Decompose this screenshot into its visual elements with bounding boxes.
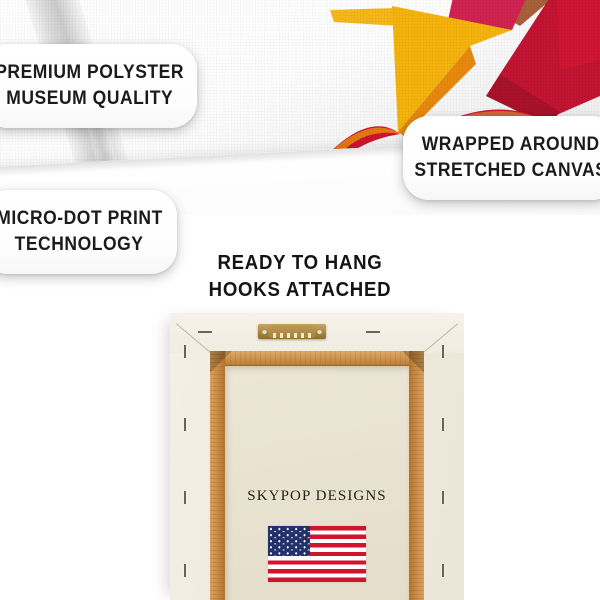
badge-wrapped-around: WRAPPED AROUND STRETCHED CANVAS bbox=[403, 116, 600, 200]
united-states-flag-icon bbox=[268, 526, 366, 582]
wood-grain bbox=[210, 351, 225, 600]
hanger-screw-hole-left bbox=[262, 329, 267, 334]
badge-premium-polyster: PREMIUM POLYSTER MUSEUM QUALITY bbox=[0, 44, 197, 128]
hanger-teeth bbox=[273, 333, 311, 338]
stretcher-bar-left bbox=[210, 351, 225, 600]
staple-left-4 bbox=[184, 564, 186, 577]
staple-right-4 bbox=[442, 564, 444, 577]
brand-name: SKYPOP DESIGNS bbox=[225, 488, 409, 505]
stretcher-bar-right bbox=[409, 351, 424, 600]
hanger-screw-hole-right bbox=[317, 329, 322, 334]
sawtooth-hanger-icon bbox=[258, 324, 326, 339]
stretcher-bar-top bbox=[210, 351, 424, 366]
staple-left-1 bbox=[184, 345, 186, 358]
staple-top-right bbox=[366, 331, 380, 333]
badge-line-1: PREMIUM POLYSTER bbox=[0, 60, 184, 86]
badge-line-2: STRETCHED CANVAS bbox=[414, 158, 600, 184]
badge-line-1: WRAPPED AROUND bbox=[421, 132, 599, 158]
headline-line-1: READY TO HANG bbox=[21, 250, 579, 277]
staple-top-left bbox=[198, 331, 212, 333]
staple-right-1 bbox=[442, 345, 444, 358]
product-feature-image: PREMIUM POLYSTER MUSEUM QUALITY WRAPPED … bbox=[0, 0, 600, 600]
flag-stars bbox=[268, 526, 310, 556]
headline-ready-to-hang: READY TO HANG HOOKS ATTACHED bbox=[0, 250, 600, 304]
staple-left-3 bbox=[184, 491, 186, 504]
canvas-back-photo: SKYPOP DESIGNS bbox=[0, 305, 600, 600]
headline-line-2: HOOKS ATTACHED bbox=[21, 277, 579, 304]
canvas-back-panel: SKYPOP DESIGNS bbox=[170, 313, 464, 600]
staple-left-2 bbox=[184, 418, 186, 431]
wood-grain bbox=[409, 351, 424, 600]
staple-right-3 bbox=[442, 491, 444, 504]
wood-grain bbox=[210, 351, 424, 366]
badge-line-1: MICRO-DOT PRINT bbox=[0, 206, 163, 232]
staple-right-2 bbox=[442, 418, 444, 431]
badge-line-2: MUSEUM QUALITY bbox=[6, 86, 173, 112]
flag-canton bbox=[268, 526, 310, 556]
